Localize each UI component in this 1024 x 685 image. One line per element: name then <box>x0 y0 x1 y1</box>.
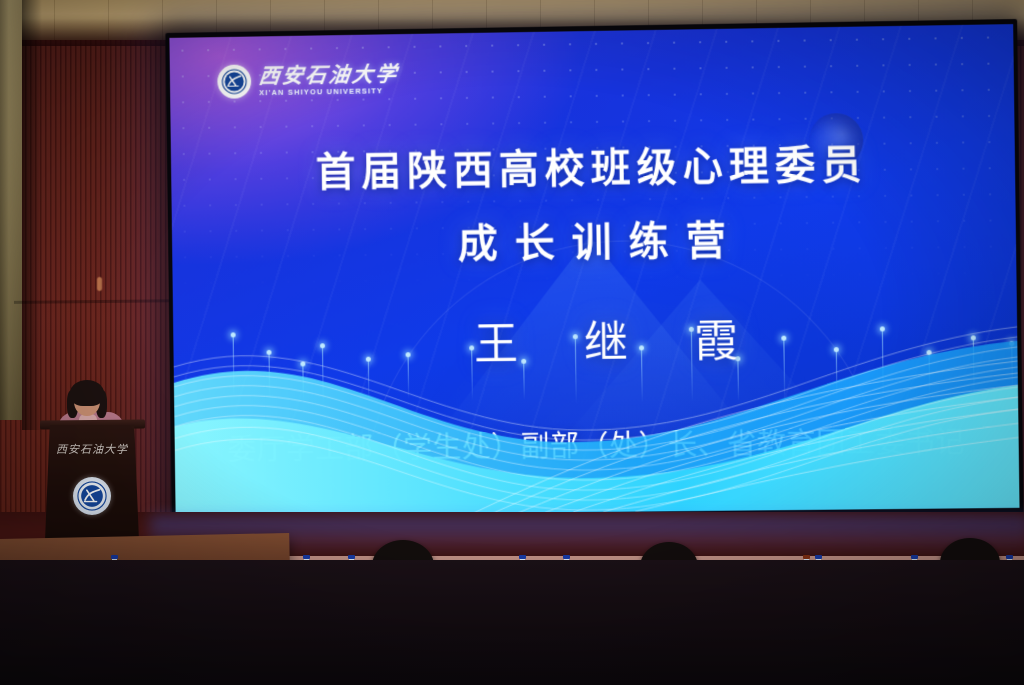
left-pillar-shadow <box>22 0 42 430</box>
presenter-hair <box>70 380 104 406</box>
wall-mark <box>97 277 102 291</box>
wave-graphic <box>173 297 1020 516</box>
podium-seal-icon <box>73 477 111 515</box>
podium-university-name: 西安石油大学 <box>44 441 140 457</box>
title-block: 首届陕西高校班级心理委员 成长训练营 <box>171 130 1017 274</box>
title-line-1: 首届陕西高校班级心理委员 <box>171 130 1016 200</box>
left-pillar <box>0 0 22 420</box>
university-logo: 西安石油大学 XI'AN SHIYOU UNIVERSITY <box>217 62 399 99</box>
university-seal-icon <box>217 64 251 98</box>
hall-floor <box>0 560 1024 685</box>
led-screen: 西安石油大学 XI'AN SHIYOU UNIVERSITY 首届陕西高校班级心… <box>169 24 1019 516</box>
led-screen-frame: 西安石油大学 XI'AN SHIYOU UNIVERSITY 首届陕西高校班级心… <box>165 19 1023 522</box>
university-name-cn: 西安石油大学 <box>258 63 400 86</box>
photo-scene: 西安石油大学 XI'AN SHIYOU UNIVERSITY 首届陕西高校班级心… <box>0 0 1024 685</box>
title-line-2: 成长训练营 <box>172 204 1017 273</box>
university-name-en: XI'AN SHIYOU UNIVERSITY <box>259 87 399 97</box>
